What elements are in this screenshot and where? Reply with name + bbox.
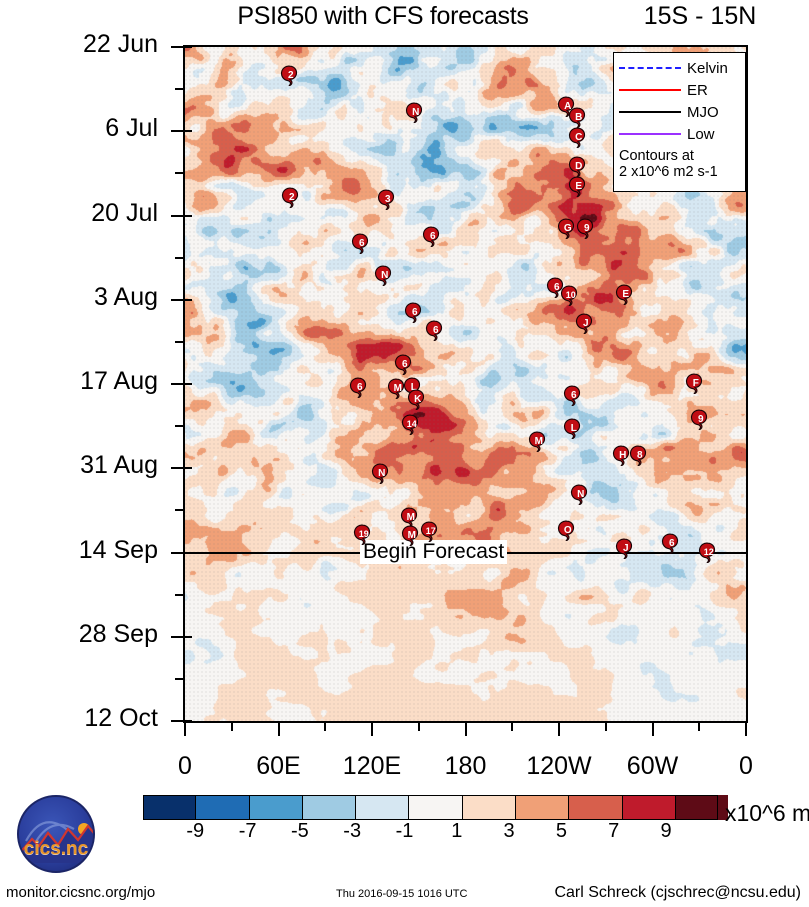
cyclone-marker: 19 — [352, 523, 374, 545]
cyclone-label: 8 — [628, 444, 650, 466]
x-axis-tick-minor — [511, 723, 513, 731]
cyclone-marker: 10 — [559, 284, 581, 306]
colorbar-swatch-6 — [462, 795, 515, 820]
x-axis-label-6: 0 — [686, 752, 806, 781]
cyclone-label: 6 — [403, 301, 425, 323]
cyclone-marker: 6 — [350, 232, 372, 254]
cyclone-marker: K — [406, 388, 428, 410]
cyclone-marker: 6 — [403, 301, 425, 323]
cyclone-marker: O — [556, 519, 578, 541]
footer-url[interactable]: monitor.cicsnc.org/mjo — [6, 884, 155, 901]
cyclone-label: 3 — [376, 188, 398, 210]
colorbar-tick-1: -7 — [228, 820, 268, 843]
x-axis-tick-minor — [231, 723, 233, 731]
cyclone-label: 12 — [697, 541, 719, 563]
cyclone-marker: 8 — [628, 444, 650, 466]
legend-line-low — [619, 133, 681, 135]
cyclone-label: 19 — [352, 523, 374, 545]
cyclone-marker: 9 — [689, 408, 711, 430]
cyclone-marker: M — [527, 430, 549, 452]
cyclone-marker: B — [567, 106, 589, 128]
footer-timestamp: Thu 2016-09-15 1016 UTC — [336, 888, 467, 900]
wave-legend: KelvinERMJOLow Contours at 2 x10^6 m2 s-… — [613, 52, 746, 192]
cyclone-marker: 14 — [400, 413, 422, 435]
cyclone-label: N — [404, 101, 426, 123]
cyclone-marker: 17 — [419, 520, 441, 542]
cyclone-marker: 6 — [660, 532, 682, 554]
cyclone-label: 10 — [559, 284, 581, 306]
contour-interval-note: Contours at 2 x10^6 m2 s-1 — [619, 148, 740, 180]
cyclone-marker: 9 — [575, 217, 597, 239]
y-axis-tick-major — [171, 552, 183, 554]
cyclone-marker: E — [567, 175, 589, 197]
y-axis-tick-major — [171, 383, 183, 385]
cyclone-label: O — [556, 519, 578, 541]
cyclone-label: 6 — [421, 225, 443, 247]
cyclone-marker: 6 — [421, 225, 443, 247]
legend-row-low: Low — [619, 123, 740, 145]
colorbar-tick-3: -3 — [332, 820, 372, 843]
legend-label-low: Low — [687, 127, 715, 142]
cyclone-label: 2 — [279, 64, 301, 86]
legend-label-er: ER — [687, 83, 708, 98]
cyclone-label: 6 — [424, 319, 446, 341]
begin-forecast-label: Begin Forecast — [360, 540, 507, 564]
cyclone-label: E — [614, 283, 636, 305]
cyclone-label: N — [373, 264, 395, 286]
cyclone-label: J — [614, 537, 636, 559]
cyclone-marker: 6 — [562, 384, 584, 406]
cyclone-marker: L — [562, 417, 584, 439]
y-axis-tick-inner — [183, 636, 192, 638]
x-axis-tick-major — [465, 723, 467, 736]
y-axis-tick-minor — [175, 509, 183, 511]
cyclone-label: K — [406, 388, 428, 410]
cyclone-marker: N — [370, 462, 392, 484]
legend-row-mjo: MJO — [619, 101, 740, 123]
cyclone-marker: 2 — [279, 64, 301, 86]
cyclone-marker: C — [567, 126, 589, 148]
cyclone-marker: 6 — [424, 319, 446, 341]
cyclone-marker: N — [373, 264, 395, 286]
y-axis-label-1: 6 Jul — [0, 114, 158, 143]
colorbar-swatch-7 — [515, 795, 568, 820]
colorbar-swatch-3 — [302, 795, 355, 820]
cyclone-marker: 6 — [393, 353, 415, 375]
colorbar-tick-5: 1 — [437, 820, 477, 843]
x-axis-tick-major — [558, 723, 560, 736]
cyclone-label: 2 — [280, 186, 302, 208]
cyclone-marker: 6 — [348, 376, 370, 398]
cyclone-marker: J — [574, 312, 596, 334]
cyclone-marker: E — [614, 283, 636, 305]
footer-author: Carl Schreck (cjschrec@ncsu.edu) — [554, 884, 801, 902]
y-axis-tick-major — [171, 467, 183, 469]
y-axis-tick-minor — [175, 172, 183, 174]
colorbar-swatch-10 — [675, 795, 728, 820]
y-axis-tick-inner — [183, 130, 192, 132]
y-axis-tick-inner — [183, 215, 192, 217]
y-axis-label-7: 28 Sep — [0, 620, 158, 649]
colorbar-tick-0: -9 — [175, 820, 215, 843]
y-axis-tick-minor — [175, 88, 183, 90]
y-axis-tick-minor — [175, 425, 183, 427]
y-axis-label-2: 20 Jul — [0, 199, 158, 228]
colorbar-swatch-8 — [568, 795, 621, 820]
y-axis-tick-major — [171, 720, 183, 722]
y-axis-tick-inner — [183, 720, 192, 722]
y-axis-label-5: 31 Aug — [0, 451, 158, 480]
cyclone-label: 9 — [575, 217, 597, 239]
x-axis-tick-major — [652, 723, 654, 736]
colorbar — [143, 795, 728, 820]
x-axis-tick-major — [745, 723, 747, 736]
y-axis-tick-inner — [183, 383, 192, 385]
y-axis-label-4: 17 Aug — [0, 367, 158, 396]
svg-text:cics.nc: cics.nc — [24, 838, 89, 859]
cyclone-label: J — [574, 312, 596, 334]
cyclone-label: B — [567, 106, 589, 128]
legend-line-er — [619, 89, 681, 91]
cics-nc-logo: cics.nc cics.nc — [8, 793, 126, 875]
cyclone-label: 6 — [350, 232, 372, 254]
y-axis-label-3: 3 Aug — [0, 283, 158, 312]
colorbar-tick-4: -1 — [385, 820, 425, 843]
x-axis-tick-minor — [418, 723, 420, 731]
y-axis-tick-major — [171, 46, 183, 48]
colorbar-tick-2: -5 — [280, 820, 320, 843]
x-axis-tick-minor — [324, 723, 326, 731]
y-axis-label-8: 12 Oct — [0, 704, 158, 733]
cyclone-label: M — [527, 430, 549, 452]
legend-label-kelvin: Kelvin — [687, 61, 728, 76]
y-axis-tick-inner — [183, 467, 192, 469]
cyclone-marker: D — [567, 155, 589, 177]
y-axis-tick-major — [171, 130, 183, 132]
colorbar-units-label: x10^6 m2 s-1 — [725, 800, 809, 827]
cyclone-label: 9 — [689, 408, 711, 430]
cyclone-marker: 3 — [376, 188, 398, 210]
colorbar-swatch-4 — [355, 795, 408, 820]
cyclone-label: N — [370, 462, 392, 484]
y-axis-tick-minor — [175, 678, 183, 680]
y-axis-tick-major — [171, 215, 183, 217]
colorbar-tick-8: 7 — [594, 820, 634, 843]
cyclone-label: N — [569, 483, 591, 505]
cyclone-label: 14 — [400, 413, 422, 435]
cyclone-label: L — [562, 417, 584, 439]
legend-line-mjo — [619, 111, 681, 113]
cyclone-label: 6 — [348, 376, 370, 398]
y-axis-label-6: 14 Sep — [0, 536, 158, 565]
x-axis-tick-minor — [698, 723, 700, 731]
y-axis-tick-major — [171, 299, 183, 301]
colorbar-swatch-1 — [195, 795, 248, 820]
legend-label-mjo: MJO — [687, 105, 719, 120]
y-axis-tick-minor — [175, 341, 183, 343]
colorbar-swatch-2 — [249, 795, 302, 820]
y-axis-tick-inner — [183, 299, 192, 301]
cyclone-marker: 12 — [697, 541, 719, 563]
cyclone-marker: F — [684, 372, 706, 394]
y-axis-tick-minor — [175, 594, 183, 596]
cyclone-marker: N — [569, 483, 591, 505]
cyclone-label: 6 — [393, 353, 415, 375]
colorbar-swatch-9 — [622, 795, 675, 820]
cyclone-label: 6 — [660, 532, 682, 554]
y-axis-tick-minor — [175, 257, 183, 259]
cyclone-label: D — [567, 155, 589, 177]
x-axis-tick-major — [184, 723, 186, 736]
legend-line-kelvin — [619, 67, 681, 69]
cyclone-label: C — [567, 126, 589, 148]
cyclone-label: F — [684, 372, 706, 394]
colorbar-tick-9: 9 — [646, 820, 686, 843]
cyclone-label: E — [567, 175, 589, 197]
colorbar-tick-6: 3 — [489, 820, 529, 843]
y-axis-label-0: 22 Jun — [0, 30, 158, 59]
x-axis-tick-major — [371, 723, 373, 736]
cyclone-marker: J — [614, 537, 636, 559]
latitude-band-label: 15S - 15N — [600, 2, 800, 31]
colorbar-tick-7: 5 — [541, 820, 581, 843]
cyclone-label: 17 — [419, 520, 441, 542]
y-axis-tick-inner — [183, 46, 192, 48]
x-axis-tick-major — [278, 723, 280, 736]
legend-row-kelvin: Kelvin — [619, 57, 740, 79]
page-title: PSI850 with CFS forecasts — [183, 2, 583, 31]
y-axis-tick-major — [171, 636, 183, 638]
colorbar-swatch-5 — [408, 795, 461, 820]
cyclone-label: 6 — [562, 384, 584, 406]
cyclone-marker: 2 — [280, 186, 302, 208]
x-axis-tick-minor — [605, 723, 607, 731]
cyclone-marker: N — [404, 101, 426, 123]
legend-row-er: ER — [619, 79, 740, 101]
colorbar-swatch-0 — [143, 795, 195, 820]
